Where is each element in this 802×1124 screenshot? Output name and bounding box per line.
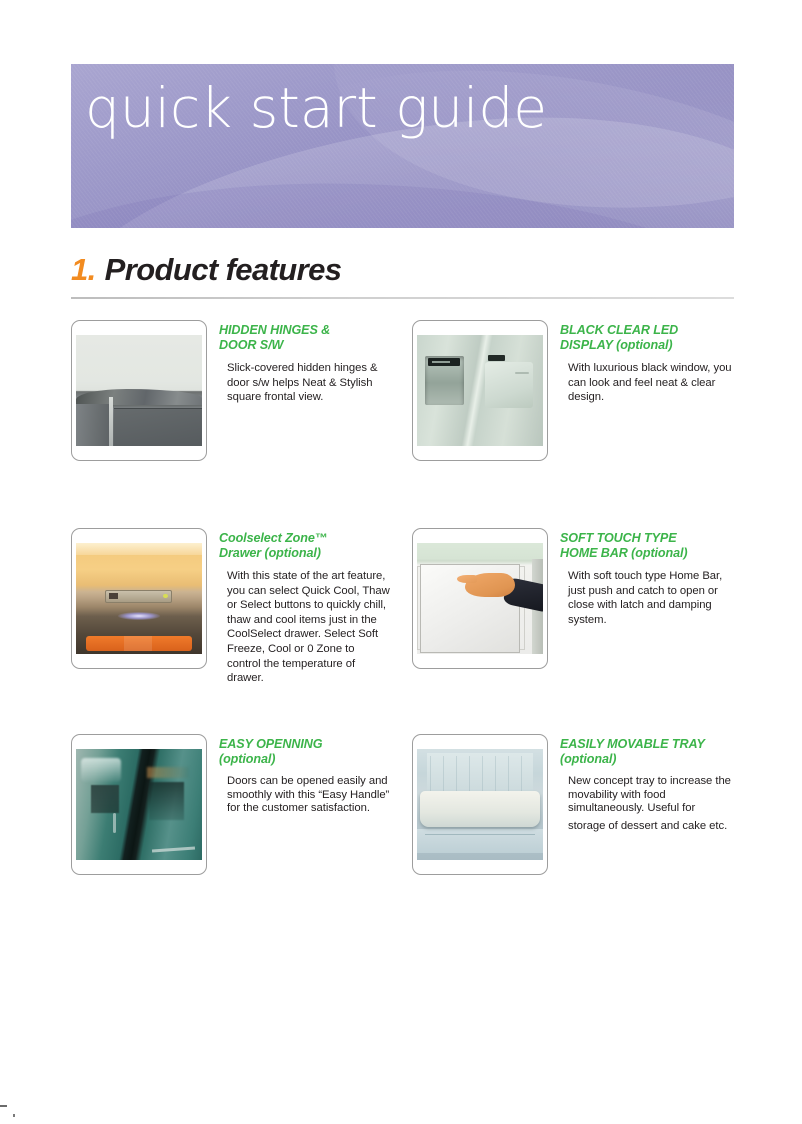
feature-photo-easy-openning bbox=[71, 734, 207, 875]
feature-photo-soft-touch-home-bar bbox=[412, 528, 548, 669]
crop-mark-dot bbox=[13, 1114, 15, 1117]
feature-title-line-2: (optional) bbox=[219, 752, 391, 767]
feature-item-easy-openning: EASY OPENNING (optional) Doors can be op… bbox=[71, 734, 391, 875]
section-heading: 1. Product features bbox=[71, 252, 734, 288]
feature-item-easily-movable-tray: EASILY MOVABLE TRAY (optional) New conce… bbox=[412, 734, 740, 875]
feature-body-soft-touch-home-bar: With soft touch type Home Bar, just push… bbox=[568, 569, 732, 627]
feature-body-easy-openning: Doors can be opened easily and smoothly … bbox=[227, 775, 391, 816]
feature-title-line-1: SOFT TOUCH TYPE bbox=[560, 531, 732, 546]
movable-tray-in-refrigerator-photo bbox=[417, 749, 543, 860]
feature-item-black-clear-led-display: BLACK CLEAR LED DISPLAY (optional) With … bbox=[412, 320, 732, 461]
feature-title-line-2: DOOR S/W bbox=[219, 338, 391, 353]
feature-body-coolselect-zone-drawer: With this state of the art feature, you … bbox=[227, 569, 391, 686]
page-header-banner: quick start guide bbox=[71, 64, 734, 228]
feature-title-line-1: Coolselect Zone™ bbox=[219, 531, 391, 546]
feature-photo-black-clear-led-display bbox=[412, 320, 548, 461]
feature-body-hidden-hinges: Slick-covered hidden hinges & door s/w h… bbox=[227, 361, 391, 405]
feature-title-coolselect-zone-drawer: Coolselect Zone™ Drawer (optional) bbox=[219, 531, 391, 561]
refrigerator-top-hidden-hinge-photo bbox=[76, 335, 202, 446]
feature-title-line-2: HOME BAR (optional) bbox=[560, 546, 732, 561]
feature-title-line-1: EASILY MOVABLE TRAY bbox=[560, 737, 740, 752]
feature-title-line-2: (optional) bbox=[560, 752, 740, 767]
feature-title-hidden-hinges: HIDDEN HINGES & DOOR S/W bbox=[219, 323, 391, 353]
feature-item-soft-touch-home-bar: SOFT TOUCH TYPE HOME BAR (optional) With… bbox=[412, 528, 732, 669]
page-title: Product features bbox=[105, 252, 342, 288]
feature-item-hidden-hinges: HIDDEN HINGES & DOOR S/W Slick-covered h… bbox=[71, 320, 391, 461]
feature-body-black-clear-led-display: With luxurious black window, you can loo… bbox=[568, 361, 732, 405]
feature-title-line-1: HIDDEN HINGES & bbox=[219, 323, 391, 338]
section-number: 1. bbox=[71, 252, 96, 288]
feature-photo-coolselect-zone-drawer bbox=[71, 528, 207, 669]
side-by-side-refrigerator-led-display-photo bbox=[417, 335, 543, 446]
feature-photo-easily-movable-tray bbox=[412, 734, 548, 875]
hand-pushing-home-bar-photo bbox=[417, 543, 543, 654]
feature-body-easily-movable-tray-part-2: storage of dessert and cake etc. bbox=[568, 820, 740, 834]
refrigerator-easy-handle-doors-photo bbox=[76, 749, 202, 860]
feature-photo-hidden-hinges bbox=[71, 320, 207, 461]
feature-title-line-1: EASY OPENNING bbox=[219, 737, 391, 752]
feature-title-line-2: Drawer (optional) bbox=[219, 546, 391, 561]
feature-title-line-2: DISPLAY (optional) bbox=[560, 338, 732, 353]
coolselect-zone-drawer-interior-photo bbox=[76, 543, 202, 654]
section-divider bbox=[71, 297, 734, 299]
feature-item-coolselect-zone-drawer: Coolselect Zone™ Drawer (optional) With … bbox=[71, 528, 391, 686]
feature-title-black-clear-led-display: BLACK CLEAR LED DISPLAY (optional) bbox=[560, 323, 732, 353]
crop-mark-dash bbox=[0, 1105, 7, 1107]
feature-title-easy-openning: EASY OPENNING (optional) bbox=[219, 737, 391, 767]
banner-title: quick start guide bbox=[85, 81, 547, 136]
feature-body-easily-movable-tray-part-1: New concept tray to increase the movabil… bbox=[568, 775, 740, 816]
feature-title-line-1: BLACK CLEAR LED bbox=[560, 323, 732, 338]
feature-title-easily-movable-tray: EASILY MOVABLE TRAY (optional) bbox=[560, 737, 740, 767]
feature-title-soft-touch-home-bar: SOFT TOUCH TYPE HOME BAR (optional) bbox=[560, 531, 732, 561]
